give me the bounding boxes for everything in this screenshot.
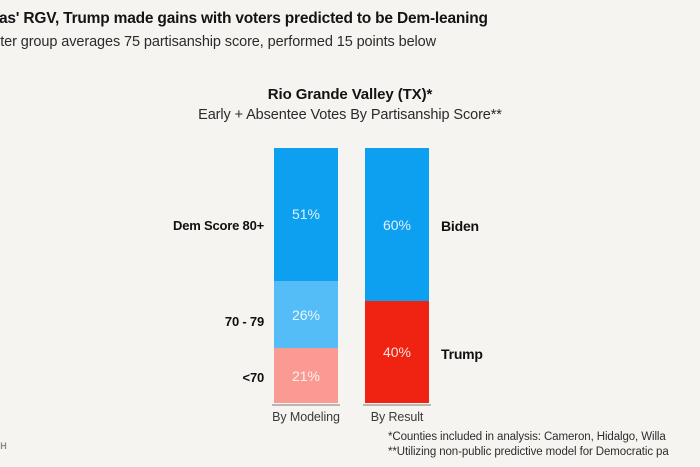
watermark-logo: S RCH: [0, 424, 9, 452]
bar-segment-value: 60%: [383, 218, 411, 232]
bar-segment-value: 21%: [292, 369, 320, 383]
series-label-trump: Trump: [441, 347, 483, 361]
category-label-70-79: 70 - 79: [225, 315, 264, 328]
chart-plot-area: Dem Score 80+ 70 - 79 <70 51% 26% 21% 60…: [0, 0, 700, 467]
stacked-bar-by-result[interactable]: 60% 40%: [365, 148, 429, 403]
bar-segment-value: 40%: [383, 345, 411, 359]
footnotes-block: *Counties included in analysis: Cameron,…: [388, 430, 700, 460]
axis-line-result: [363, 404, 431, 406]
axis-line-modeling: [272, 404, 340, 406]
series-label-biden: Biden: [441, 219, 479, 233]
stacked-bar-by-modeling[interactable]: 51% 26% 21%: [274, 148, 338, 403]
bar-segment-modeling-under70[interactable]: 21%: [274, 348, 338, 403]
bar-segment-value: 26%: [292, 308, 320, 322]
category-label-dem80: Dem Score 80+: [173, 219, 264, 232]
watermark-logo-sub: RCH: [0, 440, 9, 452]
footnote-model: **Utilizing non-public predictive model …: [388, 445, 700, 460]
bar-segment-value: 51%: [292, 207, 320, 221]
bar-segment-modeling-70-79[interactable]: 26%: [274, 281, 338, 349]
bar-segment-result-biden[interactable]: 60%: [365, 148, 429, 301]
bar-segment-modeling-dem80[interactable]: 51%: [274, 148, 338, 281]
footnote-counties: *Counties included in analysis: Cameron,…: [388, 430, 700, 445]
x-axis-tick-by-result: By Result: [337, 410, 457, 424]
category-label-under70: <70: [243, 371, 264, 384]
bar-segment-result-trump[interactable]: 40%: [365, 301, 429, 403]
watermark-logo-main: S: [0, 424, 9, 440]
